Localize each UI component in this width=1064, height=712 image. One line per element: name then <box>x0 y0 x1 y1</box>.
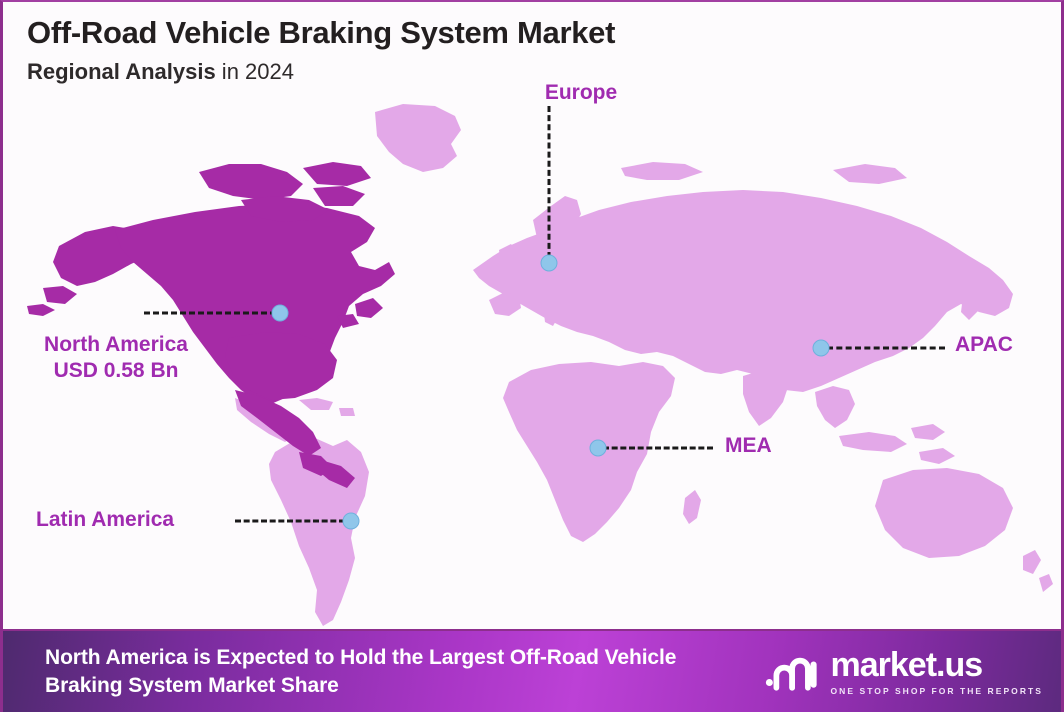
header: Off-Road Vehicle Braking System Market R… <box>3 2 1064 84</box>
region-name-north-america: North America <box>44 333 188 356</box>
brand-text-block: market.us ONE STOP SHOP FOR THE REPORTS <box>831 648 1043 696</box>
subtitle-light: in 2024 <box>216 59 294 84</box>
region-name-europe: Europe <box>545 81 617 104</box>
footer-banner: North America is Expected to Hold the La… <box>3 629 1064 712</box>
connector-north-america <box>144 312 276 315</box>
region-label-mea: MEA <box>725 433 772 459</box>
brand-name: market.us <box>831 648 1043 682</box>
marker-apac[interactable] <box>813 340 830 357</box>
region-name-latin-america: Latin America <box>36 508 174 531</box>
connector-mea <box>603 447 713 450</box>
connector-apac <box>827 347 945 350</box>
brand-tagline: ONE STOP SHOP FOR THE REPORTS <box>831 686 1043 696</box>
subtitle-strong: Regional Analysis <box>27 59 216 84</box>
footer-callout: North America is Expected to Hold the La… <box>45 644 745 699</box>
region-label-north-america: North America USD 0.58 Bn <box>21 332 211 383</box>
region-name-mea: MEA <box>725 434 772 457</box>
connector-europe <box>548 106 551 258</box>
marker-north-america[interactable] <box>272 305 289 322</box>
region-value-north-america: USD 0.58 Bn <box>21 358 211 384</box>
marker-europe[interactable] <box>541 255 558 272</box>
marker-mea[interactable] <box>590 440 607 457</box>
brand-logo[interactable]: market.us ONE STOP SHOP FOR THE REPORTS <box>765 648 1043 696</box>
region-name-apac: APAC <box>955 333 1013 356</box>
market-us-logo-icon <box>765 649 821 695</box>
region-label-apac: APAC <box>955 332 1013 358</box>
region-label-latin-america: Latin America <box>36 507 174 533</box>
page-subtitle: Regional Analysis in 2024 <box>27 60 1064 84</box>
page-title: Off-Road Vehicle Braking System Market <box>27 16 1064 51</box>
infographic-canvas: Off-Road Vehicle Braking System Market R… <box>0 0 1064 712</box>
map-annotations-layer: North America USD 0.58 Bn Europe APAC ME… <box>3 2 1064 630</box>
connector-latin-america <box>235 520 345 523</box>
marker-latin-america[interactable] <box>343 513 360 530</box>
